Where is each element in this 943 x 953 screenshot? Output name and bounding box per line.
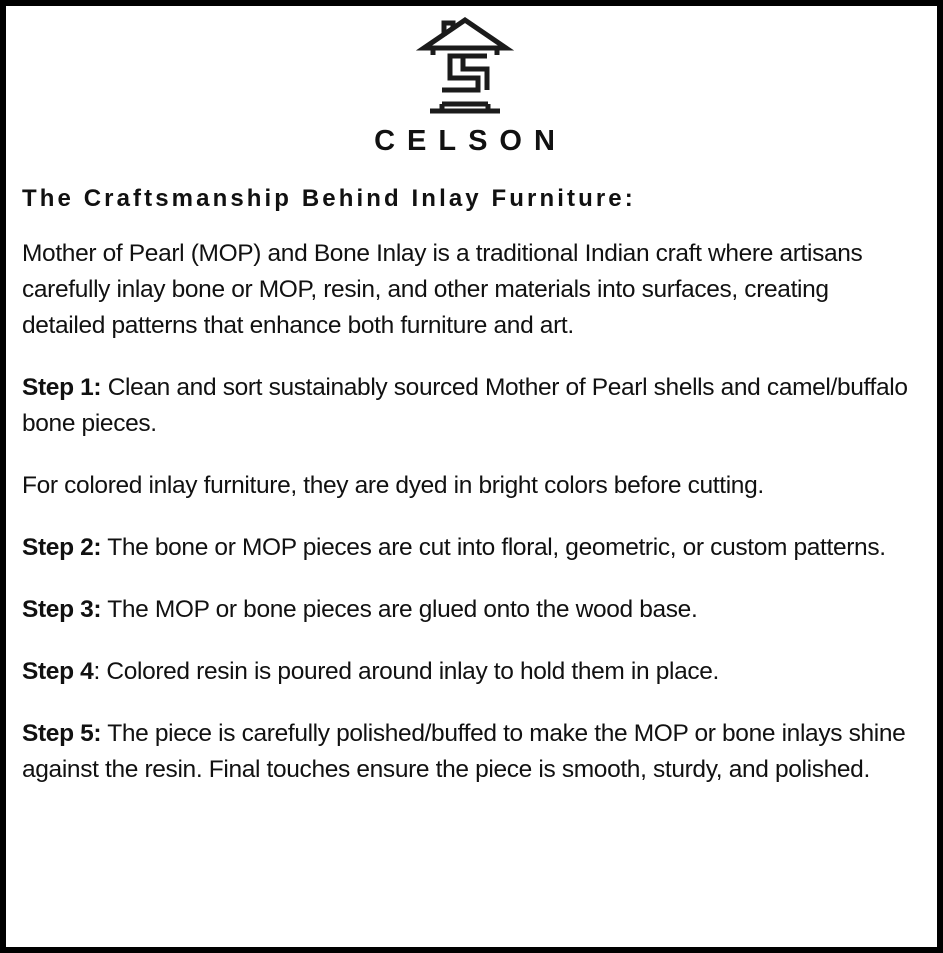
house-monogram-logo-icon <box>416 16 514 116</box>
paragraph-step-2: Step 2: The bone or MOP pieces are cut i… <box>22 530 910 566</box>
paragraph-text: : Colored resin is poured around inlay t… <box>93 658 719 685</box>
paragraph-text: The bone or MOP pieces are cut into flor… <box>101 534 885 561</box>
paragraph-text: The MOP or bone pieces are glued onto th… <box>101 596 697 623</box>
paragraph-text: Mother of Pearl (MOP) and Bone Inlay is … <box>22 240 862 339</box>
paragraph-dye-note: For colored inlay furniture, they are dy… <box>22 468 910 504</box>
paragraph-step-5: Step 5: The piece is carefully polished/… <box>22 716 910 788</box>
paragraph-text: For colored inlay furniture, they are dy… <box>22 472 764 499</box>
step-label: Step 1: <box>22 374 101 401</box>
document-body: Mother of Pearl (MOP) and Bone Inlay is … <box>22 214 910 788</box>
brand-header: CELSON <box>16 14 913 158</box>
document-content: CELSON The Craftsmanship Behind Inlay Fu… <box>6 6 937 947</box>
paragraph-step-4: Step 4: Colored resin is poured around i… <box>22 654 910 690</box>
paragraph-text: Clean and sort sustainably sourced Mothe… <box>22 374 908 437</box>
paragraph-intro: Mother of Pearl (MOP) and Bone Inlay is … <box>22 236 910 344</box>
step-label: Step 3: <box>22 596 101 623</box>
paragraph-text: The piece is carefully polished/buffed t… <box>22 720 905 783</box>
document-card: CELSON The Craftsmanship Behind Inlay Fu… <box>0 0 943 953</box>
step-label: Step 4 <box>22 658 93 685</box>
step-label: Step 5: <box>22 720 101 747</box>
page-title: The Craftsmanship Behind Inlay Furniture… <box>22 185 913 214</box>
brand-wordmark: CELSON <box>16 126 913 158</box>
paragraph-step-3: Step 3: The MOP or bone pieces are glued… <box>22 592 910 628</box>
step-label: Step 2: <box>22 534 101 561</box>
paragraph-step-1: Step 1: Clean and sort sustainably sourc… <box>22 370 910 442</box>
